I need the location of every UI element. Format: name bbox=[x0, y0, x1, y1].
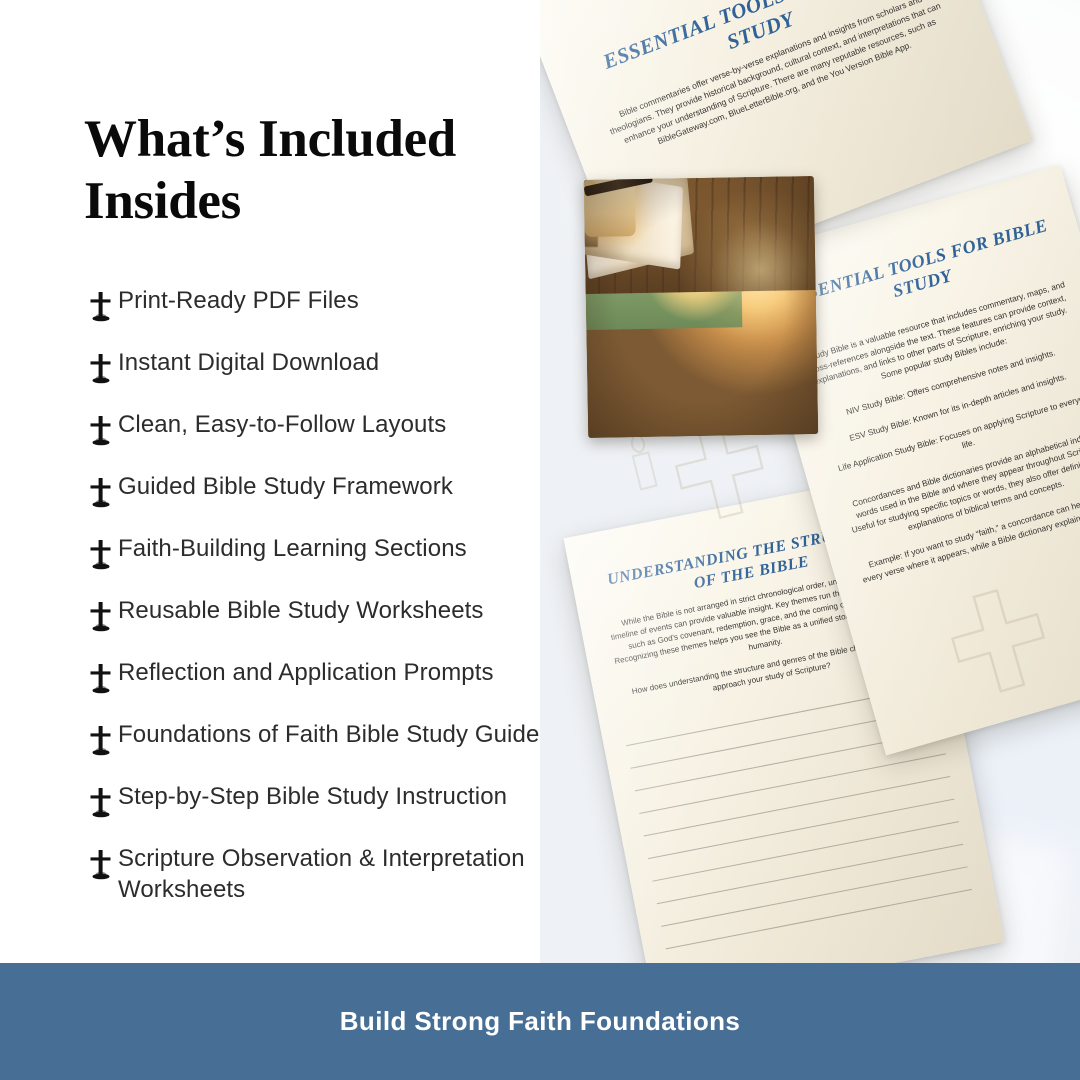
document-collage-image: UNDERSTANDING THE STRUCTURE OF THE BIBLE… bbox=[540, 0, 1080, 963]
list-item: Reflection and Application Prompts bbox=[84, 658, 560, 698]
photo-vignette bbox=[584, 176, 818, 438]
cross-icon bbox=[84, 661, 118, 695]
footer-banner: Build Strong Faith Foundations bbox=[0, 963, 1080, 1080]
list-item-label: Guided Bible Study Framework bbox=[118, 472, 453, 503]
cross-icon bbox=[84, 723, 118, 757]
list-item-label: Print-Ready PDF Files bbox=[118, 286, 359, 317]
list-item-label: Scripture Observation & Interpretation W… bbox=[118, 844, 560, 905]
cross-icon bbox=[84, 785, 118, 819]
cross-icon bbox=[84, 537, 118, 571]
cross-icon bbox=[84, 847, 118, 881]
list-item: Reusable Bible Study Worksheets bbox=[84, 596, 560, 636]
list-item: Faith-Building Learning Sections bbox=[84, 534, 560, 574]
cross-watermark bbox=[938, 575, 1061, 707]
list-item-label: Faith-Building Learning Sections bbox=[118, 534, 467, 565]
cross-icon bbox=[84, 413, 118, 447]
list-item: Scripture Observation & Interpretation W… bbox=[84, 844, 560, 905]
cross-icon bbox=[84, 289, 118, 323]
list-item: Step-by-Step Bible Study Instruction bbox=[84, 782, 560, 822]
answer-line bbox=[648, 799, 954, 860]
answer-line bbox=[661, 866, 967, 927]
list-item-label: Instant Digital Download bbox=[118, 348, 379, 379]
content-panel: What’s Included Insides Print-Ready PDF … bbox=[0, 0, 560, 963]
list-item-label: Reflection and Application Prompts bbox=[118, 658, 494, 689]
footer-tagline: Build Strong Faith Foundations bbox=[340, 1006, 741, 1037]
features-list: Print-Ready PDF Files Instant Digital Do… bbox=[84, 286, 560, 905]
answer-line bbox=[666, 889, 972, 950]
page-title: What’s Included Insides bbox=[84, 108, 514, 232]
list-item: Guided Bible Study Framework bbox=[84, 472, 560, 512]
answer-line bbox=[652, 821, 958, 882]
cross-icon bbox=[84, 351, 118, 385]
open-bible-by-window-photo bbox=[584, 176, 818, 438]
answer-line bbox=[657, 844, 963, 905]
answer-line bbox=[644, 776, 950, 837]
list-item-label: Step-by-Step Bible Study Instruction bbox=[118, 782, 507, 813]
list-item: Clean, Easy-to-Follow Layouts bbox=[84, 410, 560, 450]
list-item-label: Reusable Bible Study Worksheets bbox=[118, 596, 484, 627]
answer-line bbox=[639, 753, 945, 814]
cross-icon bbox=[84, 599, 118, 633]
cross-icon bbox=[84, 475, 118, 509]
list-item: Instant Digital Download bbox=[84, 348, 560, 388]
list-item: Print-Ready PDF Files bbox=[84, 286, 560, 326]
list-item: Foundations of Faith Bible Study Guide bbox=[84, 720, 560, 760]
document-body: A study Bible is a valuable resource tha… bbox=[798, 277, 1080, 586]
list-item-label: Clean, Easy-to-Follow Layouts bbox=[118, 410, 446, 441]
list-item-label: Foundations of Faith Bible Study Guide bbox=[118, 720, 539, 751]
